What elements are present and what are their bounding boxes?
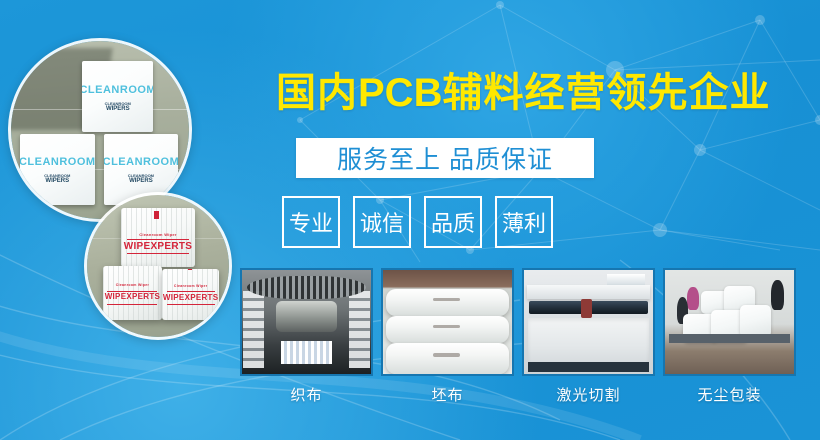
pack-sub-label-2: WIPERS bbox=[106, 106, 130, 112]
bale-brand-label: WIPEXPERTS bbox=[121, 241, 195, 252]
wipe-bale-top: Cleanroom Wiper WIPEXPERTS bbox=[121, 208, 195, 268]
cutting-bed bbox=[528, 318, 649, 366]
packed-bag-pile bbox=[740, 305, 771, 336]
process-item-cleanroom-packing[interactable]: 无尘包装 bbox=[663, 268, 796, 405]
fabric-roll bbox=[386, 343, 510, 374]
fabric-roll bbox=[386, 316, 510, 343]
bale-rule bbox=[127, 253, 189, 254]
wipe-bale-right: Cleanroom Wiper WIPEXPERTS bbox=[162, 269, 219, 320]
feature-tag-list: 专业 诚信 品质 薄利 bbox=[282, 196, 553, 248]
knitting-machine-illustration bbox=[242, 270, 371, 374]
bale-brand-label: WIPEXPERTS bbox=[162, 293, 219, 302]
process-photo-laser-cutting bbox=[522, 268, 655, 376]
yarn-spools-left bbox=[243, 291, 264, 368]
feature-tag-professional[interactable]: 专业 bbox=[282, 196, 340, 248]
feature-tag-integrity[interactable]: 诚信 bbox=[353, 196, 411, 248]
pack-brand-label: CLEANROOM bbox=[104, 156, 179, 168]
laser-cutter-illustration bbox=[524, 270, 653, 374]
wipe-bale-left: Cleanroom Wiper WIPEXPERTS bbox=[103, 266, 163, 320]
bale-rule bbox=[167, 304, 215, 305]
pack-sub-label-2: WIPERS bbox=[129, 178, 153, 184]
laser-head bbox=[581, 299, 593, 318]
pack-brand-label: CLEANROOM bbox=[20, 156, 95, 168]
wiper-pack-top: CLEANROOM CLEANROOM WIPERS bbox=[82, 61, 153, 132]
process-caption: 坯布 bbox=[381, 384, 514, 405]
packing-table bbox=[669, 334, 790, 342]
headline-part-2: PCB bbox=[358, 71, 442, 115]
pack-brand-label: CLEANROOM bbox=[82, 84, 153, 96]
process-caption: 织布 bbox=[240, 384, 373, 405]
feature-tag-label: 专业 bbox=[289, 206, 333, 238]
slogan-band: 服务至上 品质保证 bbox=[296, 138, 594, 178]
product-photo-wipexperts: Cleanroom Wiper WIPEXPERTS Cleanroom Wip… bbox=[84, 192, 232, 340]
bale-sub-label: Cleanroom Wiper bbox=[162, 284, 219, 288]
machine-base bbox=[528, 362, 649, 372]
worker-figure bbox=[687, 287, 699, 310]
feature-tag-quality[interactable]: 品质 bbox=[424, 196, 482, 248]
headline-part-3: 辅料经营领先企业 bbox=[442, 71, 770, 115]
process-caption: 无尘包装 bbox=[663, 384, 796, 405]
page-title: 国内PCB辅料经营领先企业 bbox=[276, 72, 796, 114]
machine-drum bbox=[276, 301, 338, 332]
process-item-greige-fabric[interactable]: 坯布 bbox=[381, 268, 514, 405]
bale-sub-label: Cleanroom Wiper bbox=[121, 232, 195, 237]
knitted-fabric bbox=[281, 341, 333, 364]
process-photo-strip: 织布 坯布 bbox=[240, 268, 796, 405]
process-photo-weaving bbox=[240, 268, 373, 376]
roll-marking bbox=[433, 298, 460, 301]
wiper-pack-left: CLEANROOM CLEANROOM WIPERS bbox=[20, 134, 95, 205]
slogan-text: 服务至上 品质保证 bbox=[337, 140, 553, 176]
process-item-weaving[interactable]: 织布 bbox=[240, 268, 373, 405]
fabric-rolls-illustration bbox=[383, 270, 512, 374]
yarn-spools-right bbox=[349, 291, 370, 368]
feature-tag-label: 薄利 bbox=[502, 206, 546, 238]
machine-shelf bbox=[527, 285, 651, 300]
process-photo-cleanroom-packing bbox=[663, 268, 796, 376]
bale-rule bbox=[107, 304, 157, 305]
roll-marking bbox=[433, 325, 460, 328]
process-item-laser-cutting[interactable]: 激光切割 bbox=[522, 268, 655, 405]
process-photo-greige-fabric bbox=[381, 268, 514, 376]
roll-marking bbox=[433, 353, 460, 356]
pack-sub-label-2: WIPERS bbox=[45, 178, 69, 184]
packing-room-illustration bbox=[665, 270, 794, 374]
promo-banner: CLEANROOM CLEANROOM WIPERS CLEANROOM CLE… bbox=[0, 0, 820, 440]
red-stamp bbox=[188, 269, 192, 270]
headline-part-1: 国内 bbox=[276, 71, 358, 115]
wipexperts-scene: Cleanroom Wiper WIPEXPERTS Cleanroom Wip… bbox=[87, 195, 229, 337]
feature-tag-label: 品质 bbox=[431, 206, 475, 238]
feature-tag-low-margin[interactable]: 薄利 bbox=[495, 196, 553, 248]
process-caption: 激光切割 bbox=[522, 384, 655, 405]
fabric-roll bbox=[386, 289, 510, 316]
red-stamp bbox=[154, 211, 160, 219]
bale-brand-label: WIPEXPERTS bbox=[103, 292, 163, 301]
feature-tag-label: 诚信 bbox=[360, 206, 404, 238]
worker-figure bbox=[771, 280, 784, 309]
bale-sub-label: Cleanroom Wiper bbox=[103, 283, 163, 287]
needle-ring bbox=[247, 276, 366, 299]
